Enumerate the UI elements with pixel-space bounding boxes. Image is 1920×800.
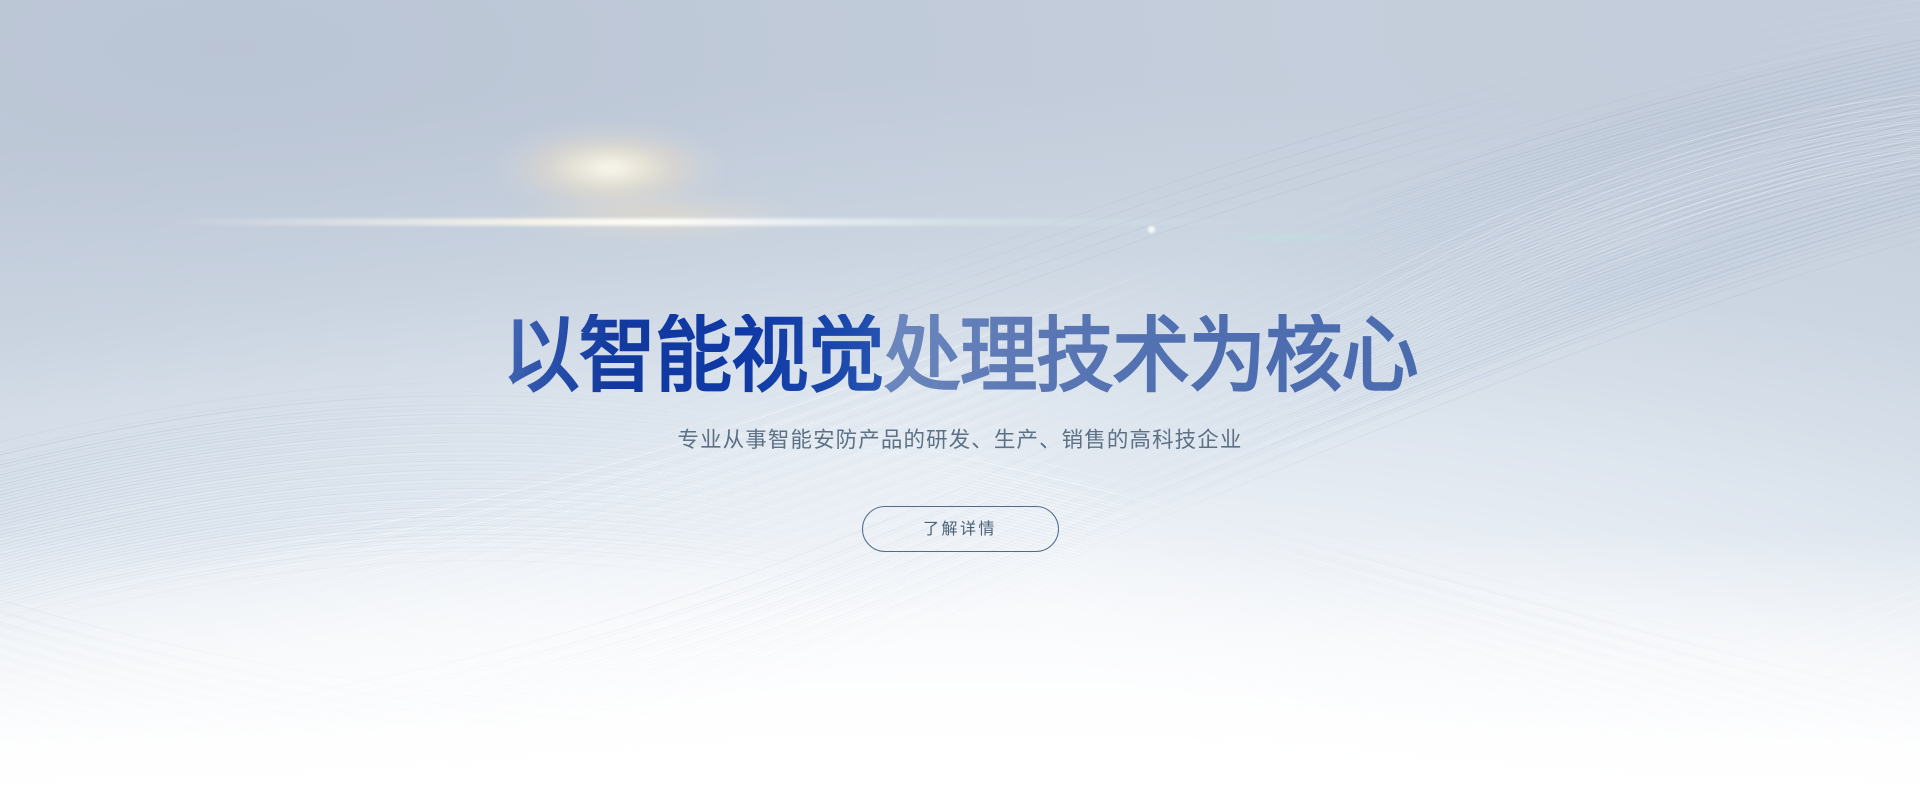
hero-content: 以智能视觉处理技术为核心 专业从事智能安防产品的研发、生产、销售的高科技企业 了… — [0, 0, 1920, 800]
cta-container: 了解详情 — [0, 506, 1920, 552]
learn-more-button[interactable]: 了解详情 — [862, 506, 1059, 552]
page-title-secondary: 处理技术为核心 — [884, 314, 1418, 397]
page-title-primary: 以智能视觉 — [502, 314, 883, 397]
hero-banner: 以智能视觉处理技术为核心 专业从事智能安防产品的研发、生产、销售的高科技企业 了… — [0, 0, 1920, 800]
page-title: 以智能视觉处理技术为核心 — [67, 314, 1853, 397]
page-subtitle: 专业从事智能安防产品的研发、生产、销售的高科技企业 — [0, 426, 1920, 456]
